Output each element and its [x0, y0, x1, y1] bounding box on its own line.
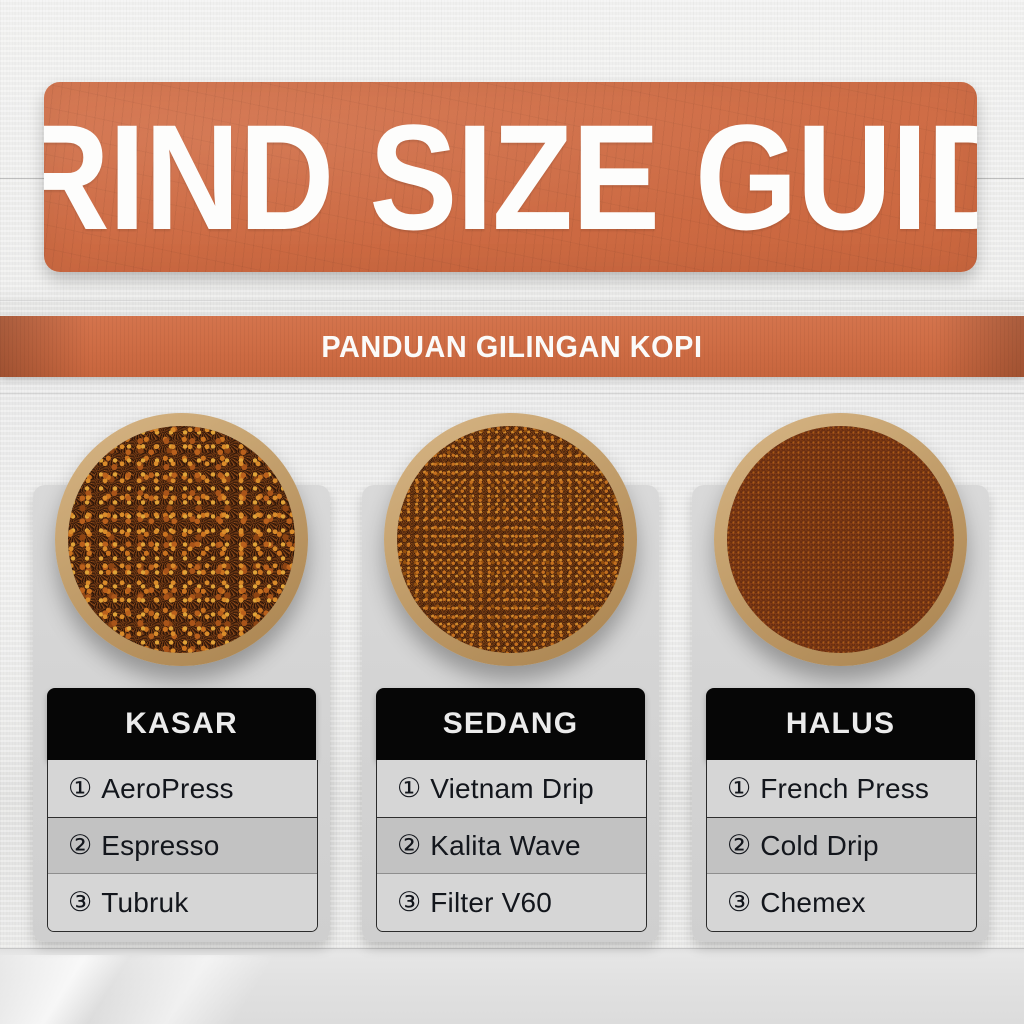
bowl-inner-rim — [727, 426, 954, 653]
medium-grind-bowl — [384, 413, 637, 666]
subtitle-band-shadow-left — [0, 316, 90, 377]
floor-highlight-streak — [0, 955, 545, 1024]
category-header: KASAR — [47, 688, 316, 760]
title-banner: GRIND SIZE GUIDE — [44, 82, 977, 272]
item-label: Kalita Wave — [430, 830, 581, 862]
list-item[interactable]: ① Vietnam Drip — [377, 760, 646, 817]
coffee-grounds-fine — [727, 426, 954, 653]
item-label: Chemex — [760, 887, 865, 919]
list-item[interactable]: ③ Tubruk — [48, 874, 317, 931]
category-header: SEDANG — [376, 688, 645, 760]
item-label: Espresso — [101, 830, 219, 862]
item-number-icon: ③ — [68, 889, 92, 916]
item-label: Cold Drip — [760, 830, 879, 862]
list-item[interactable]: ② Espresso — [48, 817, 317, 874]
category-header: HALUS — [706, 688, 975, 760]
coarse-grind-bowl — [55, 413, 308, 666]
item-number-icon: ① — [397, 775, 421, 802]
item-label: Filter V60 — [430, 887, 552, 919]
item-number-icon: ① — [68, 775, 92, 802]
category-label: KASAR — [125, 707, 238, 741]
item-number-icon: ① — [727, 775, 751, 802]
list-item[interactable]: ③ Chemex — [707, 874, 976, 931]
subtitle-band: PANDUAN GILINGAN KOPI — [0, 316, 1024, 377]
infographic-poster: GRIND SIZE GUIDE PANDUAN GILINGAN KOPI K… — [0, 0, 1024, 1024]
page-subtitle: PANDUAN GILINGAN KOPI — [321, 329, 702, 365]
brew-method-list: ① Vietnam Drip ② Kalita Wave ③ Filter V6… — [376, 760, 647, 932]
list-item[interactable]: ② Kalita Wave — [377, 817, 646, 874]
list-item[interactable]: ① French Press — [707, 760, 976, 817]
brew-method-list: ① AeroPress ② Espresso ③ Tubruk — [47, 760, 318, 932]
bowl-inner-rim — [397, 426, 624, 653]
item-number-icon: ② — [397, 832, 421, 859]
list-item[interactable]: ② Cold Drip — [707, 817, 976, 874]
grind-column-kasar: KASAR ① AeroPress ② Espresso ③ Tubruk — [33, 485, 330, 942]
category-label: SEDANG — [443, 707, 579, 741]
item-label: Vietnam Drip — [430, 773, 594, 805]
list-item[interactable]: ③ Filter V60 — [377, 874, 646, 931]
coffee-grounds-coarse — [68, 426, 295, 653]
coffee-grounds-medium — [397, 426, 624, 653]
item-number-icon: ② — [68, 832, 92, 859]
bowl-inner-rim — [68, 426, 295, 653]
floor-edge-line — [0, 948, 1024, 949]
category-label: HALUS — [786, 707, 895, 741]
page-title: GRIND SIZE GUIDE — [44, 108, 977, 246]
item-label: French Press — [760, 773, 929, 805]
plank-line-2 — [0, 300, 1024, 301]
subtitle-band-shadow-right — [934, 316, 1024, 377]
fine-grind-bowl — [714, 413, 967, 666]
plank-line-3 — [0, 393, 1024, 394]
brew-method-list: ① French Press ② Cold Drip ③ Chemex — [706, 760, 977, 932]
item-number-icon: ③ — [397, 889, 421, 916]
item-number-icon: ② — [727, 832, 751, 859]
grind-column-halus: HALUS ① French Press ② Cold Drip ③ Cheme… — [692, 485, 989, 942]
item-number-icon: ③ — [727, 889, 751, 916]
item-label: AeroPress — [101, 773, 234, 805]
list-item[interactable]: ① AeroPress — [48, 760, 317, 817]
grind-column-sedang: SEDANG ① Vietnam Drip ② Kalita Wave ③ Fi… — [362, 485, 659, 942]
item-label: Tubruk — [101, 887, 188, 919]
